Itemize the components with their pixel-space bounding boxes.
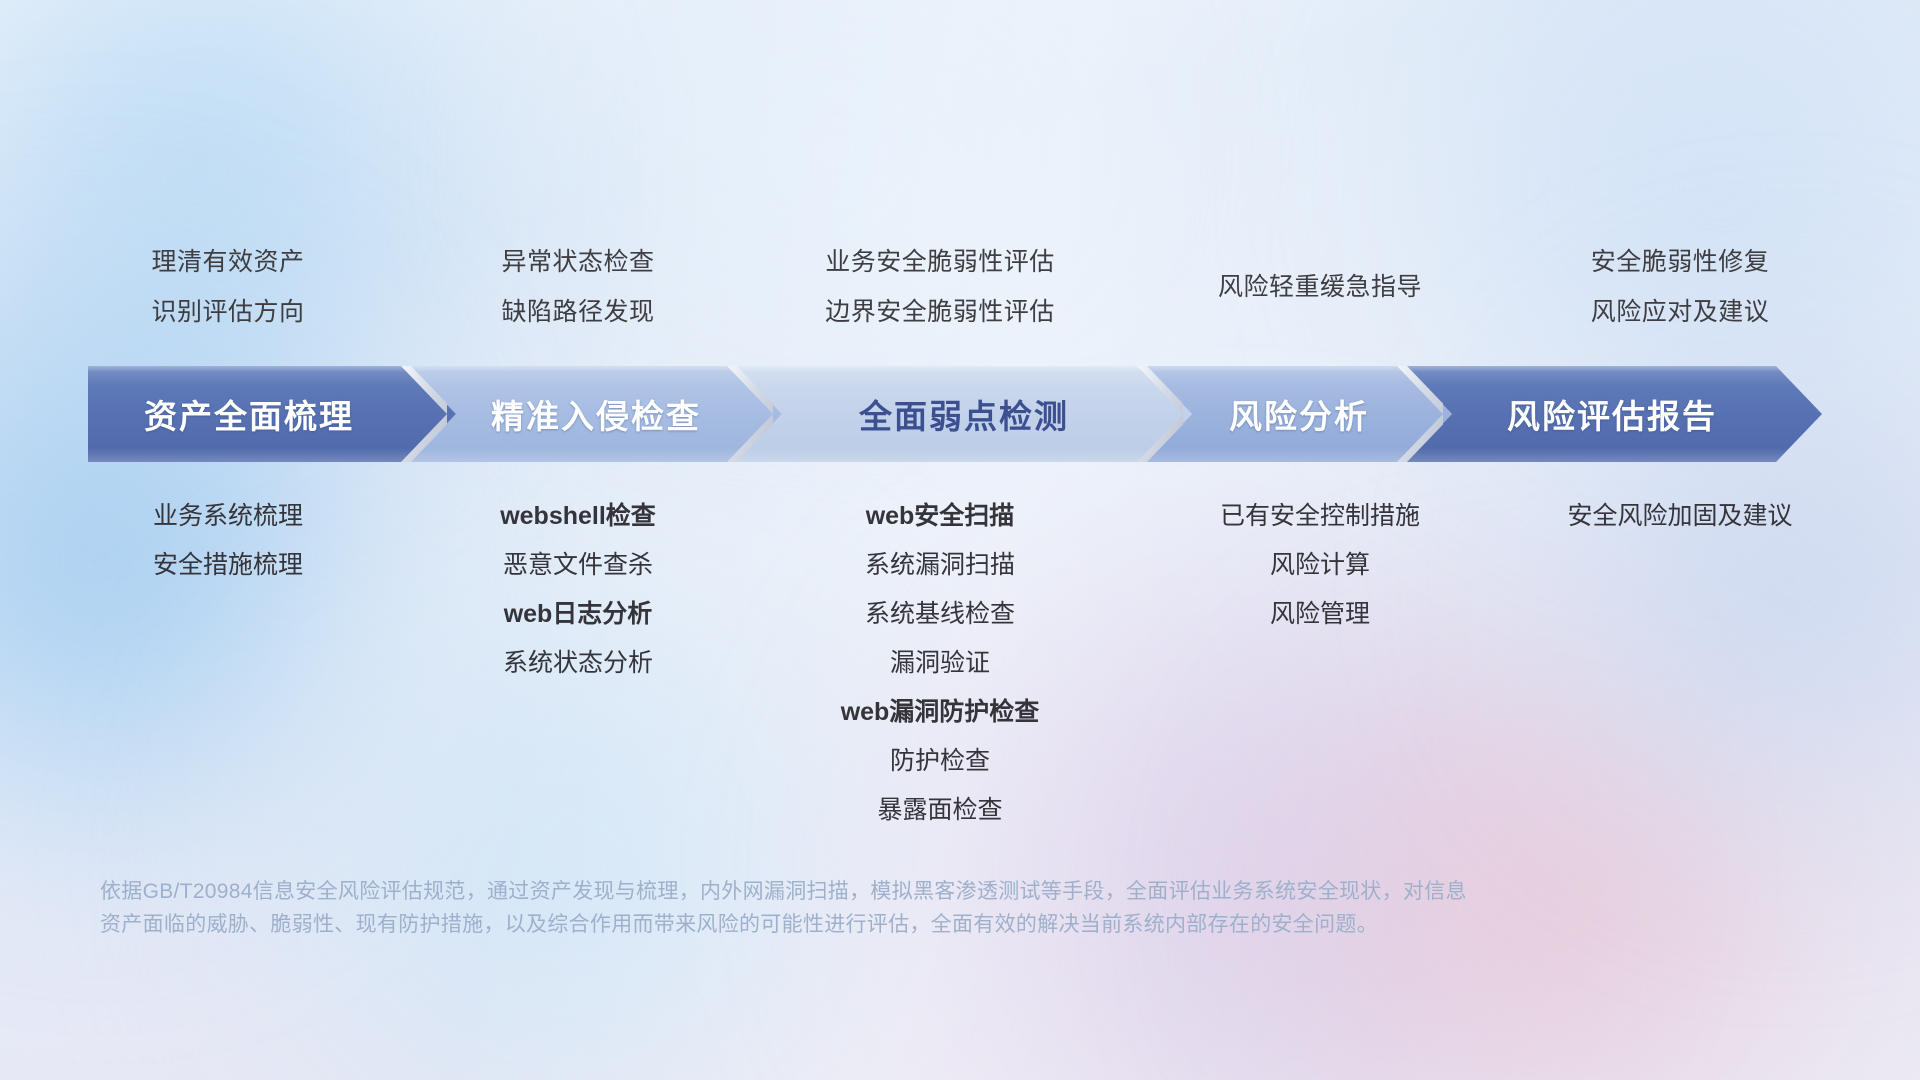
detail-list-stage-4: 已有安全控制措施风险计算风险管理	[1155, 492, 1485, 639]
top-note: 识别评估方向	[151, 287, 304, 337]
top-notes-stage-5: 安全脆弱性修复风险应对及建议	[1500, 232, 1860, 342]
detail-item: 安全风险加固及建议	[1567, 492, 1792, 541]
top-notes-stage-4: 风险轻重缓急指导	[1155, 232, 1485, 342]
top-notes-stage-1: 理清有效资产识别评估方向	[63, 232, 393, 342]
stage-chevron-band: 资产全面梳理精准入侵检查全面弱点检测风险分析风险评估报告	[0, 366, 1920, 462]
top-note: 业务安全脆弱性评估	[825, 237, 1055, 287]
detail-list-stage-1: 业务系统梳理安全措施梳理	[63, 492, 393, 590]
footer-description: 依据GB/T20984信息安全风险评估规范，通过资产发现与梳理，内外网漏洞扫描，…	[100, 875, 1660, 941]
top-note: 安全脆弱性修复	[1591, 237, 1770, 287]
detail-item: web漏洞防护检查	[841, 688, 1040, 737]
stage-detail-lists-row: 业务系统梳理安全措施梳理webshell检查恶意文件查杀web日志分析系统状态分…	[0, 492, 1920, 852]
top-notes-stage-2: 异常状态检查缺陷路径发现	[408, 232, 748, 342]
top-note: 边界安全脆弱性评估	[825, 287, 1055, 337]
detail-item: web日志分析	[504, 590, 653, 639]
detail-item: 系统状态分析	[503, 639, 653, 688]
detail-list-stage-3: web安全扫描系统漏洞扫描系统基线检查漏洞验证web漏洞防护检查防护检查暴露面检…	[740, 492, 1140, 835]
detail-item: 安全措施梳理	[153, 541, 303, 590]
top-note: 异常状态检查	[501, 237, 654, 287]
chevron-label-2: 精准入侵检查	[410, 390, 782, 438]
footer-line-2: 资产面临的威胁、脆弱性、现有防护措施，以及综合作用而带来风险的可能性进行评估，全…	[100, 908, 1660, 941]
top-notes-stage-3: 业务安全脆弱性评估边界安全脆弱性评估	[740, 232, 1140, 342]
detail-item: 已有安全控制措施	[1220, 492, 1420, 541]
detail-item: 暴露面检查	[877, 786, 1002, 835]
process-diagram: 理清有效资产识别评估方向异常状态检查缺陷路径发现业务安全脆弱性评估边界安全脆弱性…	[0, 0, 1920, 1080]
stage-top-notes-row: 理清有效资产识别评估方向异常状态检查缺陷路径发现业务安全脆弱性评估边界安全脆弱性…	[0, 232, 1920, 342]
chevron-stage-2[interactable]: 精准入侵检查	[410, 366, 782, 462]
top-note: 理清有效资产	[151, 237, 304, 287]
chevron-stage-3[interactable]: 全面弱点检测	[736, 366, 1192, 462]
detail-item: 系统基线检查	[865, 590, 1015, 639]
top-note: 风险轻重缓急指导	[1218, 262, 1422, 312]
detail-item: 风险计算	[1270, 541, 1370, 590]
detail-item: 风险管理	[1270, 590, 1370, 639]
detail-item: web安全扫描	[866, 492, 1015, 541]
chevron-label-1: 资产全面梳理	[88, 390, 456, 438]
chevron-label-3: 全面弱点检测	[736, 390, 1192, 438]
top-note: 缺陷路径发现	[501, 287, 654, 337]
detail-list-stage-2: webshell检查恶意文件查杀web日志分析系统状态分析	[408, 492, 748, 688]
detail-item: webshell检查	[500, 492, 656, 541]
chevron-stage-5[interactable]: 风险评估报告	[1406, 366, 1822, 462]
top-note: 风险应对及建议	[1591, 287, 1770, 337]
detail-item: 防护检查	[890, 737, 990, 786]
detail-item: 恶意文件查杀	[503, 541, 653, 590]
chevron-stage-1[interactable]: 资产全面梳理	[88, 366, 456, 462]
footer-line-1: 依据GB/T20984信息安全风险评估规范，通过资产发现与梳理，内外网漏洞扫描，…	[100, 875, 1660, 908]
detail-item: 漏洞验证	[890, 639, 990, 688]
detail-list-stage-5: 安全风险加固及建议	[1500, 492, 1860, 541]
chevron-label-5: 风险评估报告	[1406, 390, 1822, 438]
detail-item: 系统漏洞扫描	[865, 541, 1015, 590]
detail-item: 业务系统梳理	[153, 492, 303, 541]
